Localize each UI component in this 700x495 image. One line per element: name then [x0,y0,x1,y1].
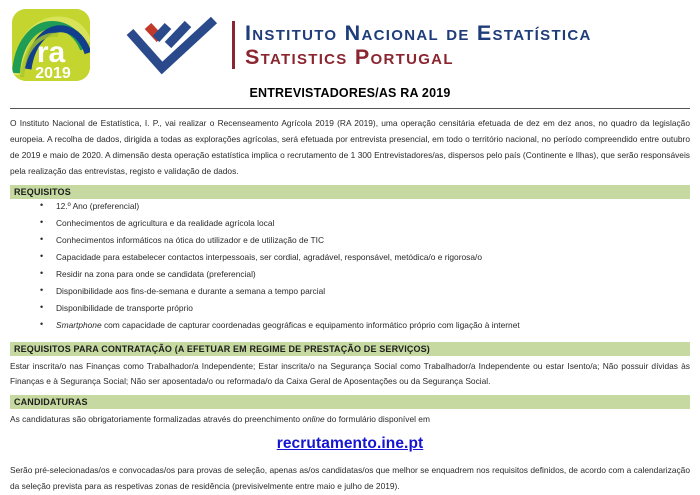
list-item-emphasis: Smartphone [56,320,102,330]
list-item-text: Conhecimentos de agricultura e da realid… [56,218,274,228]
institution-divider-bar [232,21,235,69]
section-heading-candidaturas: CANDIDATURAS [10,395,690,409]
page-title: ENTREVISTADORES/AS RA 2019 [10,86,690,100]
candidaturas-emphasis: online [302,414,324,424]
document-content: ENTREVISTADORES/AS RA 2019 O Instituto N… [0,86,700,494]
institution-name-block: Instituto Nacional de Estatística Statis… [232,21,592,69]
contratacao-paragraph: Estar inscrita/o nas Finanças como Traba… [10,359,690,390]
list-item: Residir na zona para onde se candidata (… [56,270,690,287]
list-item-text: Residir na zona para onde se candidata (… [56,269,256,279]
title-divider [10,108,690,109]
list-item-text: 12.º Ano (preferencial) [56,201,139,211]
list-item-text: Conhecimentos informáticos na ótica do u… [56,235,324,245]
list-item: Capacidade para estabelecer contactos in… [56,253,690,270]
document-page: ra 2019 Instituto Nacional de Estatístic… [0,0,700,495]
list-item-text: Capacidade para estabelecer contactos in… [56,252,482,262]
candidaturas-paragraph: As candidaturas são obrigatoriamente for… [10,412,690,428]
list-item: 12.º Ano (preferencial) [56,202,690,219]
list-item: Disponibilidade aos fins-de-semana e dur… [56,287,690,304]
requisitos-list: 12.º Ano (preferencial) Conhecimentos de… [10,202,690,338]
list-item: Conhecimentos de agricultura e da realid… [56,219,690,236]
institution-name-pt: Instituto Nacional de Estatística [245,21,592,45]
ra-2019-logo-graphic: ra 2019 [12,9,90,81]
recruitment-link[interactable]: recrutamento.ine.pt [277,435,424,452]
list-item: Disponibilidade de transporte próprio [56,304,690,321]
institution-name-en: Statistics Portugal [245,45,592,69]
list-item-text: com capacidade de capturar coordenadas g… [102,320,520,330]
document-header: ra 2019 Instituto Nacional de Estatístic… [0,0,700,84]
ra-2019-logo: ra 2019 [12,9,90,81]
section-heading-requisitos: REQUISITOS [10,185,690,199]
list-item: Smartphone com capacidade de capturar co… [56,321,690,338]
ine-logo-graphic [122,14,218,76]
closing-paragraph: Serão pré-selecionadas/os e convocadas/o… [10,463,690,494]
list-item: Conhecimentos informáticos na ótica do u… [56,236,690,253]
section-heading-contratacao: REQUISITOS PARA CONTRATAÇÃO (A EFETUAR E… [10,342,690,356]
candidaturas-text-before: As candidaturas são obrigatoriamente for… [10,414,302,424]
list-item-text: Disponibilidade de transporte próprio [56,303,193,313]
svg-text:2019: 2019 [35,65,71,81]
ine-checkmark-logo [122,14,218,76]
candidaturas-text-after: do formulário disponível em [325,414,430,424]
application-link-row: recrutamento.ine.pt [10,435,690,453]
list-item-text: Disponibilidade aos fins-de-semana e dur… [56,286,325,296]
intro-paragraph: O Instituto Nacional de Estatística, I. … [10,115,690,180]
